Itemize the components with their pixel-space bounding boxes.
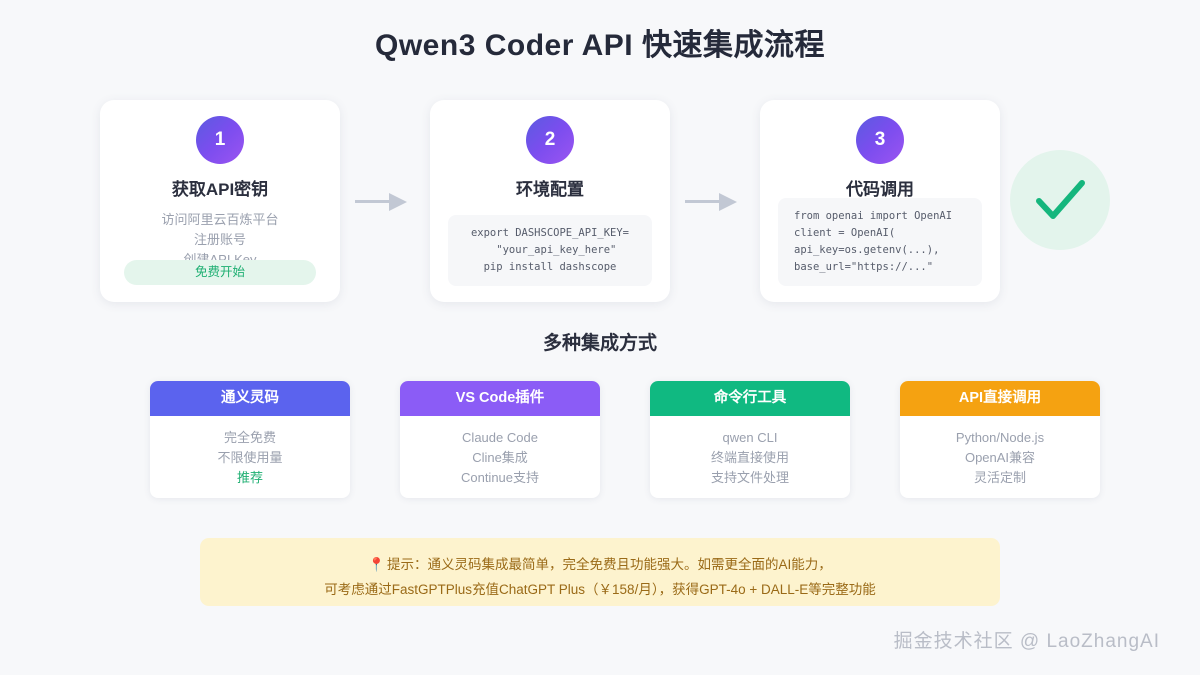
method-feature: Continue支持 bbox=[400, 468, 600, 488]
method-card-tongyi-lingma[interactable]: 通义灵码 完全免费 不限使用量 推荐 bbox=[150, 381, 350, 498]
arrow-head-icon bbox=[389, 193, 407, 211]
method-feature: 终端直接使用 bbox=[650, 448, 850, 468]
success-check-circle bbox=[1010, 150, 1110, 250]
step-number-badge-1: 1 bbox=[196, 116, 244, 164]
tip-line-1: 📍提示：通义灵码集成最简单，完全免费且功能强大。如需更全面的AI能力， bbox=[200, 552, 1000, 577]
step-title-3: 代码调用 bbox=[760, 175, 1000, 200]
method-feature: qwen CLI bbox=[650, 428, 850, 448]
arrow-line bbox=[355, 200, 393, 203]
method-header-cli-tool: 命令行工具 bbox=[650, 381, 850, 416]
arrow-line bbox=[685, 200, 723, 203]
method-feature: Cline集成 bbox=[400, 448, 600, 468]
step-title-2: 环境配置 bbox=[430, 175, 670, 200]
steps-row: 1 获取API密钥 访问阿里云百炼平台 注册账号 创建API Key 免费开始 … bbox=[100, 100, 1100, 302]
method-body-tongyi-lingma: 完全免费 不限使用量 推荐 bbox=[150, 416, 350, 488]
method-header-direct-api: API直接调用 bbox=[900, 381, 1100, 416]
method-card-cli-tool[interactable]: 命令行工具 qwen CLI 终端直接使用 支持文件处理 bbox=[650, 381, 850, 498]
check-icon bbox=[1010, 150, 1110, 250]
arrow-step1-to-step2 bbox=[355, 190, 411, 212]
method-body-cli-tool: qwen CLI 终端直接使用 支持文件处理 bbox=[650, 416, 850, 488]
method-feature: 灵活定制 bbox=[900, 468, 1100, 488]
tip-banner: 📍提示：通义灵码集成最简单，完全免费且功能强大。如需更全面的AI能力， 可考虑通… bbox=[200, 538, 1000, 606]
method-feature: 支持文件处理 bbox=[650, 468, 850, 488]
method-feature: Python/Node.js bbox=[900, 428, 1100, 448]
method-card-direct-api[interactable]: API直接调用 Python/Node.js OpenAI兼容 灵活定制 bbox=[900, 381, 1100, 498]
method-header-tongyi-lingma: 通义灵码 bbox=[150, 381, 350, 416]
arrow-step2-to-step3 bbox=[685, 190, 741, 212]
integration-methods-row: 通义灵码 完全免费 不限使用量 推荐 VS Code插件 Claude Code… bbox=[150, 381, 1100, 498]
tip-line-2: 可考虑通过FastGPTPlus充值ChatGPT Plus（￥158/月），获… bbox=[200, 577, 1000, 602]
step-number-badge-2: 2 bbox=[526, 116, 574, 164]
page-title: Qwen3 Coder API 快速集成流程 bbox=[0, 20, 1200, 64]
step-card-2[interactable]: 2 环境配置 export DASHSCOPE_API_KEY= "your_a… bbox=[430, 100, 670, 302]
step-number-badge-3: 3 bbox=[856, 116, 904, 164]
step-title-1: 获取API密钥 bbox=[100, 175, 340, 200]
method-feature: OpenAI兼容 bbox=[900, 448, 1100, 468]
method-feature: Claude Code bbox=[400, 428, 600, 448]
method-body-direct-api: Python/Node.js OpenAI兼容 灵活定制 bbox=[900, 416, 1100, 488]
arrow-head-icon bbox=[719, 193, 737, 211]
pin-icon: 📍 bbox=[368, 557, 385, 572]
method-body-vscode-plugin: Claude Code Cline集成 Continue支持 bbox=[400, 416, 600, 488]
section-heading-integration-methods: 多种集成方式 bbox=[0, 328, 1200, 355]
step-card-3[interactable]: 3 代码调用 from openai import OpenAI client … bbox=[760, 100, 1000, 302]
code-block-api-call: from openai import OpenAI client = OpenA… bbox=[778, 198, 982, 286]
method-feature: 完全免费 bbox=[150, 428, 350, 448]
code-block-env-config: export DASHSCOPE_API_KEY= "your_api_key_… bbox=[448, 215, 652, 286]
watermark: 掘金技术社区 @ LaoZhangAI bbox=[894, 626, 1160, 653]
method-card-vscode-plugin[interactable]: VS Code插件 Claude Code Cline集成 Continue支持 bbox=[400, 381, 600, 498]
method-recommended-tag: 推荐 bbox=[150, 468, 350, 488]
step-card-1[interactable]: 1 获取API密钥 访问阿里云百炼平台 注册账号 创建API Key 免费开始 bbox=[100, 100, 340, 302]
tip-line-1-text: 提示：通义灵码集成最简单，完全免费且功能强大。如需更全面的AI能力， bbox=[387, 557, 832, 572]
free-start-badge[interactable]: 免费开始 bbox=[124, 260, 316, 285]
method-feature: 不限使用量 bbox=[150, 448, 350, 468]
method-header-vscode-plugin: VS Code插件 bbox=[400, 381, 600, 416]
